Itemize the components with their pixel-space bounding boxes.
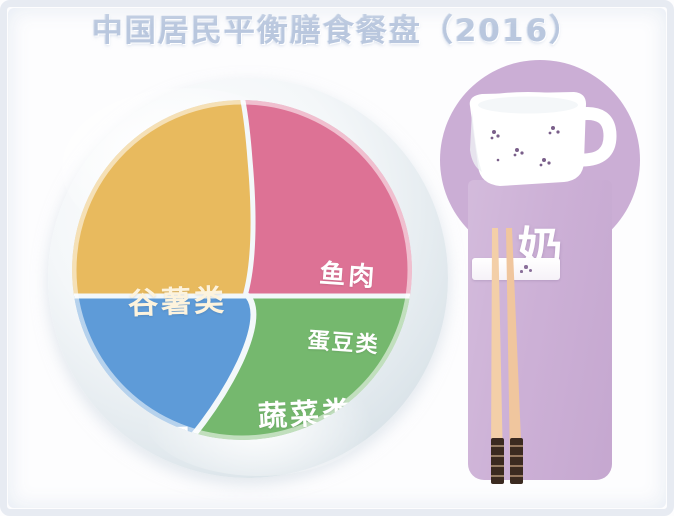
plate-outer-rim: 谷薯类 鱼肉 蛋豆类 蔬菜类 水果 类 bbox=[48, 78, 448, 478]
cup-milk-surface bbox=[478, 97, 578, 114]
chopstick-right-tip bbox=[510, 438, 523, 484]
milk-placemat[interactable]: 奶 bbox=[440, 60, 640, 488]
milk-cup[interactable] bbox=[462, 88, 620, 192]
chopstick-right bbox=[506, 228, 522, 464]
diet-plate-poster: 中国居民平衡膳食餐盘（2016） bbox=[0, 0, 674, 516]
page-title: 中国居民平衡膳食餐盘（2016） bbox=[92, 14, 582, 50]
plate-segment-protein[interactable] bbox=[242, 100, 412, 296]
chopsticks[interactable] bbox=[470, 228, 590, 486]
plate-segments-svg bbox=[72, 100, 412, 440]
plate-segment-grain[interactable] bbox=[72, 100, 253, 296]
poster-title-container: 中国居民平衡膳食餐盘（2016） bbox=[0, 14, 674, 50]
plate-inner-surface: 谷薯类 鱼肉 蛋豆类 蔬菜类 水果 类 bbox=[72, 100, 412, 440]
chopstick-left-tip bbox=[491, 438, 504, 484]
chopstick-left bbox=[491, 228, 503, 464]
